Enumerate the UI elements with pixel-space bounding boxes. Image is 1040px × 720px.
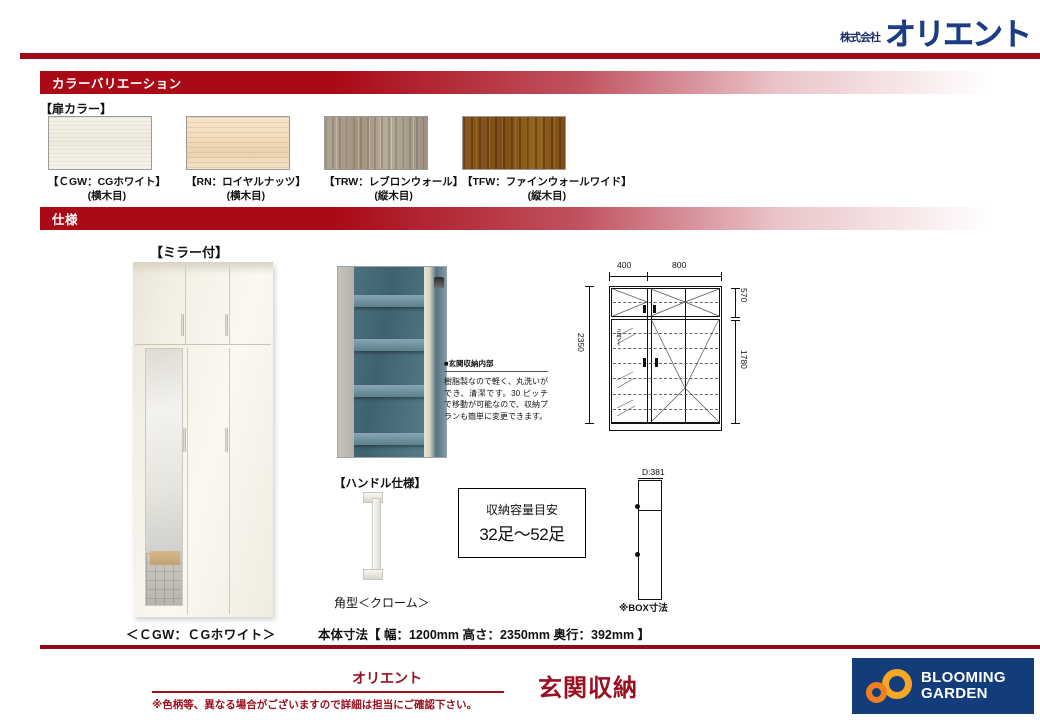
spec-title: 仕様: [40, 209, 78, 228]
swatch-color-cgw: [48, 116, 152, 170]
elevation-handle-1: [643, 305, 646, 313]
section-banner-color-variation: カラーバリエーション: [40, 71, 1020, 94]
cabinet-horizontal-divider: [135, 344, 271, 345]
company-name-text: オリエント: [885, 19, 1030, 50]
elevation-mirror-note: ミラー: [613, 328, 623, 346]
interior-description-body: 樹脂製なので軽く、丸洗いができ、清潔です。30 ピッチで移動が可能なので、収納プ…: [444, 376, 548, 422]
dim-line-upper-height: [735, 288, 736, 318]
swatch-caption-cgw-line1: 【ＣGW：CGホワイト】: [48, 175, 166, 189]
dim-tick-top-mid: [647, 272, 648, 281]
blooming-garden-text: BLOOMING GARDEN: [921, 670, 1006, 702]
side-view-drawing: D:381: [622, 466, 702, 616]
cabinet-mirror-panel: [145, 348, 183, 606]
color-swatch-row: 【ＣGW：CGホワイト】 (横木目) 【RN：ロイヤルナッツ】 (横木目) 【T…: [48, 116, 648, 206]
blooming-garden-logo: BLOOMING GARDEN: [852, 658, 1034, 714]
dim-tick-top-left: [609, 272, 610, 281]
dim-tick-lower-bottom: [731, 423, 740, 424]
elevation-drawing: 400 800: [573, 258, 723, 458]
company-logo: 株式会社 オリエント: [790, 14, 1030, 50]
swatch-caption-rn-line1: 【RN：ロイヤルナッツ】: [186, 175, 306, 189]
cabinet-handle-lower-right: [225, 428, 228, 452]
dim-tick-top-right: [721, 272, 722, 281]
cabinet-lower-door-seam-2: [229, 348, 230, 614]
box-dimension-note: ※BOX寸法: [619, 600, 668, 614]
dim-line-lower-height: [735, 320, 736, 424]
capacity-value: 32足〜52足: [479, 520, 564, 545]
interior-hinge-icon: [434, 277, 444, 288]
dim-width-left: 400: [617, 260, 631, 270]
dim-total-height: 2350: [576, 333, 586, 352]
interior-photo: [337, 266, 447, 458]
dim-tick-total-bottom: [585, 423, 594, 424]
swatch-caption-trw-line1: 【TRW：レブロンウォール】: [324, 175, 463, 189]
color-variation-title: カラーバリエーション: [40, 73, 182, 92]
footer-underline: [152, 691, 504, 693]
footer-disclaimer-note: ※色柄等、異なる場合がございますので詳細は担当にご確認下さい。: [152, 697, 477, 712]
mirror-reflection-step: [150, 551, 180, 565]
side-hinge-1: [635, 504, 640, 509]
dim-width-right: 800: [672, 260, 686, 270]
cabinet-handle-upper-left: [181, 314, 184, 336]
footer-product-name: 玄関収納: [538, 668, 638, 703]
cabinet-handle-lower-left: [183, 428, 186, 452]
swatch-caption-cgw-line2: (横木目): [48, 189, 166, 203]
interior-description-title: ■玄関収納内部: [444, 358, 548, 372]
swatch-caption-rn-line2: (横木目): [186, 189, 306, 203]
swatch-caption-tfw-line1: 【TFW：ファインウォールワイド】: [462, 175, 632, 189]
handle-caption: 角型＜クローム＞: [334, 594, 430, 611]
swatch-caption-tfw-line2: (縦木目): [462, 189, 632, 203]
side-hinge-2: [635, 552, 640, 557]
cabinet-top-shadow: [133, 262, 273, 274]
cabinet-upper-door-seam-2: [229, 266, 230, 344]
cabinet-lower-door-seam-1: [187, 348, 188, 614]
cabinet-handle-upper-right: [225, 314, 228, 336]
top-red-rule: [20, 53, 1040, 59]
cgw-color-caption: ＜ＣGW：ＣGホワイト＞: [126, 624, 276, 643]
elevation-handle-3: [643, 358, 646, 367]
door-color-label: 【扉カラー】: [40, 100, 112, 117]
bottom-red-rule: [40, 645, 1040, 649]
logo-line-2: GARDEN: [921, 686, 1006, 702]
swatch-item-cgw[interactable]: 【ＣGW：CGホワイト】 (横木目): [48, 116, 166, 203]
elevation-handle-4: [655, 358, 658, 367]
interior-description-block: ■玄関収納内部 樹脂製なので軽く、丸洗いができ、清潔です。30 ピッチで移動が可…: [444, 358, 548, 422]
side-dim-line: [638, 478, 663, 479]
swatch-item-rn[interactable]: 【RN：ロイヤルナッツ】 (横木目): [186, 116, 306, 203]
interior-right-door-panel: [424, 267, 446, 457]
catalog-page: 株式会社 オリエント カラーバリエーション 【扉カラー】 【ＣGW：CGホワイト…: [0, 0, 1040, 720]
section-banner-spec: 仕様: [40, 207, 1020, 230]
mirror-label: 【ミラー付】: [150, 242, 228, 261]
handle-grip-bar: [372, 498, 381, 574]
company-prefix-text: 株式会社: [840, 29, 880, 45]
swatch-color-tfw: [462, 116, 566, 170]
ring-small-icon: [866, 682, 887, 703]
handle-spec-label: 【ハンドル仕様】: [334, 475, 426, 491]
swatch-item-tfw[interactable]: 【TFW：ファインウォールワイド】 (縦木目): [462, 116, 632, 203]
swatch-caption-trw-line2: (縦木目): [324, 189, 463, 203]
cabinet-photo: [133, 262, 273, 617]
logo-line-1: BLOOMING: [921, 670, 1006, 686]
dim-lower-height: 1780: [739, 350, 749, 369]
dim-line-top: [609, 276, 721, 277]
dim-tick-total-top: [585, 286, 594, 287]
body-dimensions-text: 本体寸法【 幅：1200mm 高さ：2350mm 奥行：392mm 】: [318, 624, 650, 643]
footer-brand: オリエント: [352, 668, 422, 688]
dim-depth-label: D:381: [642, 467, 665, 477]
dim-tick-upper-bottom: [731, 317, 740, 318]
interior-left-door-edge: [338, 267, 354, 457]
swatch-color-trw: [324, 116, 428, 170]
dim-tick-lower-top: [731, 320, 740, 321]
cabinet-upper-door-seam-1: [185, 266, 186, 344]
swatch-color-rn: [186, 116, 290, 170]
handle-image: [363, 492, 393, 580]
capacity-box: 収納容量目安 32足〜52足: [458, 488, 586, 558]
capacity-title: 収納容量目安: [486, 501, 558, 518]
dim-upper-height: 570: [739, 288, 749, 302]
elevation-swing-lines: [611, 288, 721, 424]
elevation-handle-2: [653, 305, 656, 313]
side-outline: [638, 480, 662, 600]
rings-icon: [866, 669, 912, 703]
swatch-item-trw[interactable]: 【TRW：レブロンウォール】 (縦木目): [324, 116, 463, 203]
side-divider: [638, 510, 662, 511]
handle-bottom-foot: [363, 569, 383, 580]
dim-line-total-height: [589, 286, 590, 424]
